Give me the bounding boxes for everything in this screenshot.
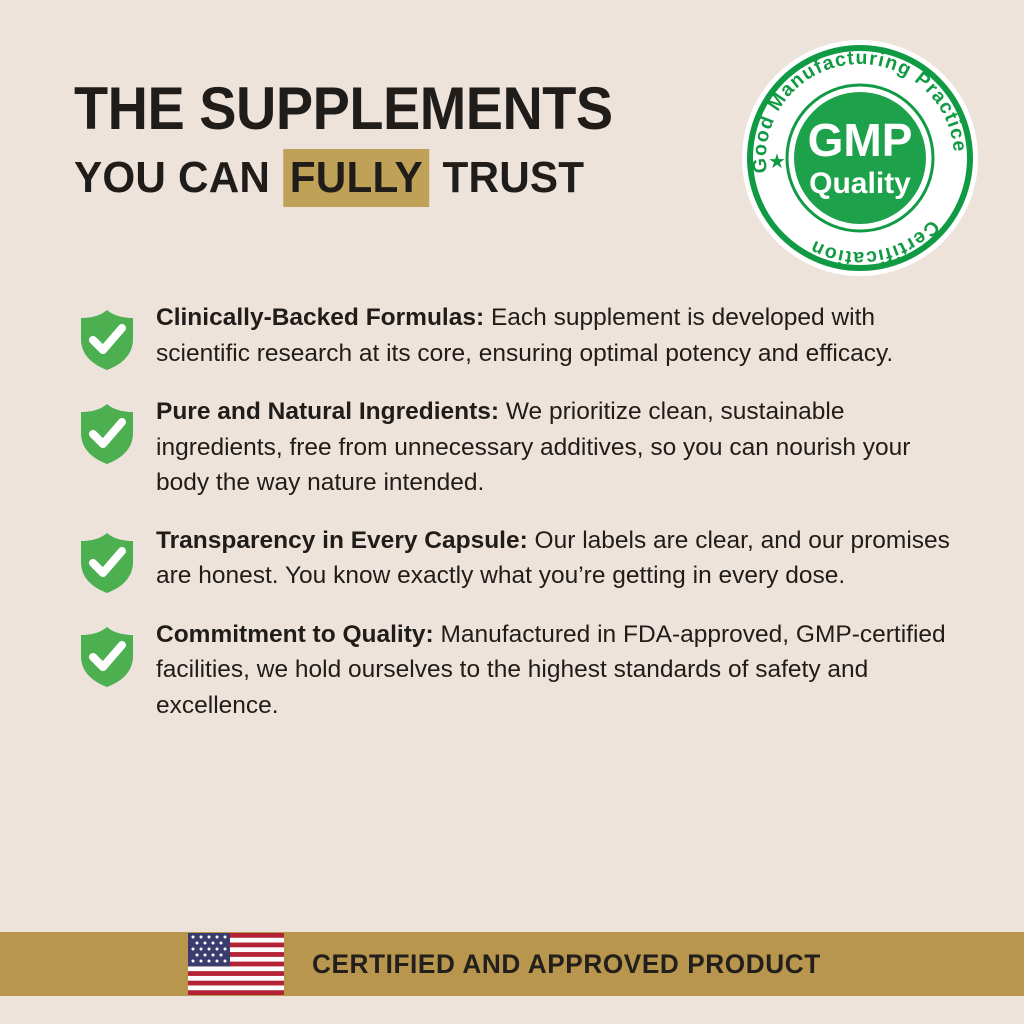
gmp-quality-badge: Good Manufacturing Practice Certificatio…: [740, 38, 980, 278]
headline-secondary-before: YOU CAN: [74, 153, 270, 202]
list-item-text: Commitment to Quality: Manufactured in F…: [156, 617, 956, 724]
shield-check-icon: [78, 402, 136, 466]
us-flag-icon: [188, 933, 284, 995]
headline-highlight-fully: FULLY: [283, 149, 430, 207]
list-item-lead: Transparency in Every Capsule:: [156, 527, 528, 554]
list-item: Transparency in Every Capsule: Our label…: [78, 523, 958, 595]
list-item-text: Transparency in Every Capsule: Our label…: [156, 523, 956, 594]
headline-secondary: YOU CAN FULLY TRUST: [74, 154, 630, 202]
footer-label: CERTIFIED AND APPROVED PRODUCT: [312, 949, 821, 980]
badge-center-gmp: GMP: [808, 114, 913, 166]
headline-primary: THE SUPPLEMENTS: [74, 78, 613, 140]
shield-check-icon: [78, 531, 136, 595]
list-item: Commitment to Quality: Manufactured in F…: [78, 617, 958, 724]
list-item-lead: Clinically-Backed Formulas:: [156, 304, 484, 331]
list-item: Pure and Natural Ingredients: We priorit…: [78, 394, 958, 501]
badge-star-icon: ★: [768, 151, 786, 173]
list-item-text: Pure and Natural Ingredients: We priorit…: [156, 394, 956, 501]
headline-secondary-after: TRUST: [443, 153, 585, 202]
list-item-lead: Commitment to Quality:: [156, 621, 434, 648]
list-item-lead: Pure and Natural Ingredients:: [156, 398, 499, 425]
shield-check-icon: [78, 308, 136, 372]
list-item: Clinically-Backed Formulas: Each supplem…: [78, 300, 958, 372]
badge-center-quality: Quality: [809, 167, 911, 200]
page-title: THE SUPPLEMENTS YOU CAN FULLY TRUST: [74, 78, 653, 202]
footer-bar: CERTIFIED AND APPROVED PRODUCT: [0, 932, 1024, 996]
list-item-text: Clinically-Backed Formulas: Each supplem…: [156, 300, 956, 371]
footer-content: CERTIFIED AND APPROVED PRODUCT: [188, 933, 837, 995]
shield-check-icon: [78, 625, 136, 689]
benefits-list: Clinically-Backed Formulas: Each supplem…: [78, 300, 958, 745]
